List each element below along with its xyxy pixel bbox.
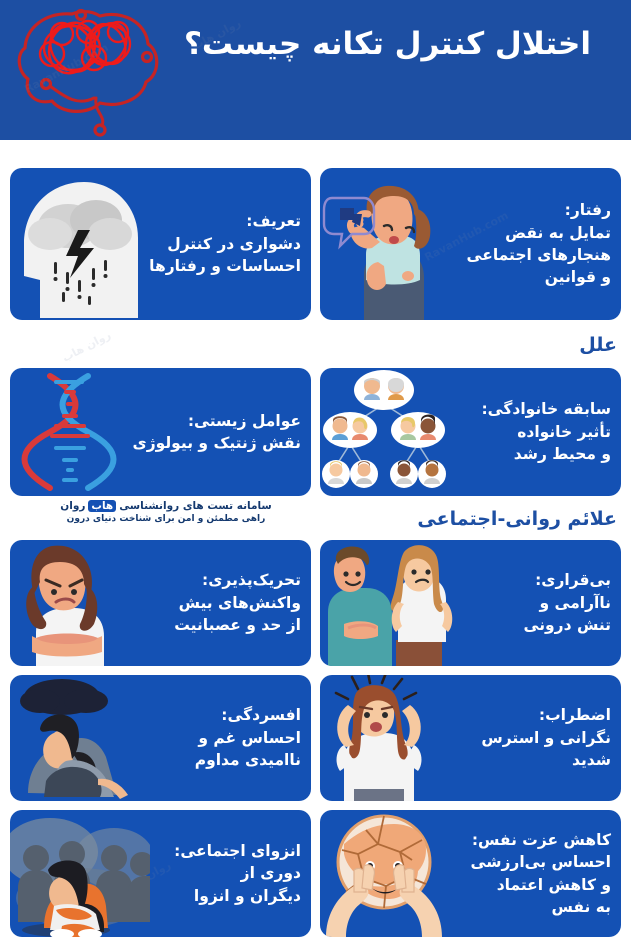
card-behavior-line3: و قوانین [444, 266, 611, 288]
card-depression-line2: ناامیدی مداوم [142, 749, 301, 771]
card-anxiety[interactable]: اضطراب: نگرانی و استرس شدید [320, 675, 621, 801]
family-tree-icon [320, 368, 448, 496]
card-depression-text: افسردگی: احساس غم و ناامیدی مداوم [140, 698, 311, 777]
card-self-esteem[interactable]: کاهش عزت نفس: احساس بی‌ارزشی و کاهش اعتم… [320, 810, 621, 937]
card-depression-line1: احساس غم و [142, 727, 301, 749]
card-restlessness-keyword: بی‌قراری: [460, 569, 611, 591]
card-behavior-text: رفتار: تمایل به نقض هنجارهای اجتماعی و ق… [442, 193, 621, 295]
dna-helix-icon [10, 368, 128, 496]
card-biological-keyword: عوامل زیستی: [130, 410, 301, 432]
card-definition-line1: دشواری در کنترل [144, 233, 301, 255]
brand-tagline: سامانه تست های روانشناسی [119, 500, 272, 512]
card-self-esteem-keyword: کاهش عزت نفس: [450, 829, 611, 851]
card-irritability-text: تحریک‌پذیری: واکنش‌های بیش از حد و عصبان… [122, 563, 311, 642]
card-self-esteem-line1: احساس بی‌ارزشی [450, 851, 611, 873]
card-restlessness-line2: تنش درونی [460, 614, 611, 636]
card-biological-text: عوامل زیستی: نقش ژنتیک و بیولوژی [128, 404, 311, 461]
card-biological-factors[interactable]: عوامل زیستی: نقش ژنتیک و بیولوژی [10, 368, 311, 496]
brand-name-chip: هاب [88, 500, 116, 512]
card-behavior-line1: تمایل به نقض [444, 222, 611, 244]
card-irritability[interactable]: تحریک‌پذیری: واکنش‌های بیش از حد و عصبان… [10, 540, 311, 666]
card-family-history[interactable]: سابقه خانوادگی: تأثیر خانواده و محیط رشد [320, 368, 621, 496]
card-biological-line1: نقش ژنتیک و بیولوژی [130, 432, 301, 454]
card-irritability-keyword: تحریک‌پذیری: [124, 569, 301, 591]
woman-shouting-icon [320, 168, 442, 320]
card-isolation-keyword: انزوای اجتماعی: [152, 840, 301, 862]
card-family-line1: تأثیر خانواده [450, 421, 611, 443]
card-self-esteem-line3: به نفس [450, 896, 611, 918]
brand-name-right: روان [60, 500, 85, 512]
card-behavior-line2: هنجارهای اجتماعی [444, 244, 611, 266]
card-irritability-line2: از حد و عصبانیت [124, 614, 301, 636]
card-anxiety-keyword: اضطراب: [442, 704, 611, 726]
card-restlessness[interactable]: بی‌قراری: ناآرامی و تنش درونی [320, 540, 621, 666]
card-isolation-text: انزوای اجتماعی: دوری از دیگران و انزوا [150, 834, 311, 913]
brand-subtitle: راهی مطمئن و امن برای شناخت دنیای درون [21, 514, 311, 524]
card-self-esteem-line2: و کاهش اعتماد [450, 874, 611, 896]
card-restlessness-text: بی‌قراری: ناآرامی و تنش درونی [458, 563, 621, 642]
card-depression-keyword: افسردگی: [142, 704, 301, 726]
card-family-text: سابقه خانوادگی: تأثیر خانواده و محیط رشد [448, 392, 621, 471]
card-definition[interactable]: تعریف: دشواری در کنترل احساسات و رفتارها [10, 168, 311, 320]
section-heading-causes: علل [0, 334, 631, 356]
brand-logo: سامانه تست های روانشناسی هاب روان راهی م… [21, 500, 311, 524]
card-anxiety-text: اضطراب: نگرانی و استرس شدید [440, 698, 621, 777]
scribbled-brain-icon [10, 2, 165, 138]
stressed-woman-icon [320, 675, 440, 801]
angry-woman-icon [10, 540, 122, 666]
card-social-isolation[interactable]: انزوای اجتماعی: دوری از دیگران و انزوا [10, 810, 311, 937]
card-anxiety-line1: نگرانی و استرس شدید [442, 727, 611, 772]
card-depression[interactable]: افسردگی: احساس غم و ناامیدی مداوم [10, 675, 311, 801]
card-family-keyword: سابقه خانوادگی: [450, 398, 611, 420]
card-behavior[interactable]: رفتار: تمایل به نقض هنجارهای اجتماعی و ق… [320, 168, 621, 320]
card-definition-text: تعریف: دشواری در کنترل احساسات و رفتارها [142, 204, 311, 283]
head-storm-cloud-icon [10, 168, 142, 320]
card-irritability-line1: واکنش‌های بیش [124, 592, 301, 614]
card-behavior-keyword: رفتار: [444, 199, 611, 221]
card-self-esteem-text: کاهش عزت نفس: احساس بی‌ارزشی و کاهش اعتم… [448, 823, 621, 925]
page-header: اختلال کنترل تکانه چیست؟ [0, 0, 631, 140]
page-title: اختلال کنترل تکانه چیست؟ [171, 24, 591, 66]
card-restlessness-line1: ناآرامی و [460, 592, 611, 614]
brand-name-row: سامانه تست های روانشناسی هاب روان [21, 500, 311, 512]
card-isolation-line2: دیگران و انزوا [152, 885, 301, 907]
card-family-line2: و محیط رشد [450, 443, 611, 465]
sad-person-raincloud-icon [10, 675, 140, 801]
card-definition-line2: احساسات و رفتارها [144, 255, 301, 277]
card-isolation-line1: دوری از [152, 862, 301, 884]
tense-couple-icon [320, 540, 458, 666]
card-definition-keyword: تعریف: [144, 210, 301, 232]
lonely-person-crowd-icon [10, 810, 150, 937]
cracked-mirror-face-icon [320, 810, 448, 937]
